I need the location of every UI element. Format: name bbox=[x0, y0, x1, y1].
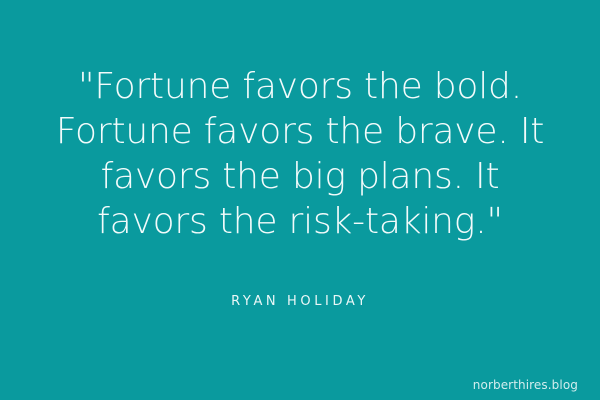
site-watermark: norberthires.blog bbox=[473, 378, 578, 392]
quote-card: "Fortune favors the bold. Fortune favors… bbox=[0, 0, 600, 400]
quote-line-2: Fortune favors the brave. It bbox=[30, 109, 570, 154]
quote-line-4: favors the risk-taking." bbox=[30, 199, 570, 244]
quote-text-block: "Fortune favors the bold. Fortune favors… bbox=[30, 64, 570, 244]
quote-line-3: favors the big plans. It bbox=[30, 154, 570, 199]
quote-attribution: RYAN HOLIDAY bbox=[30, 294, 570, 309]
quote-line-1: "Fortune favors the bold. bbox=[30, 64, 570, 109]
